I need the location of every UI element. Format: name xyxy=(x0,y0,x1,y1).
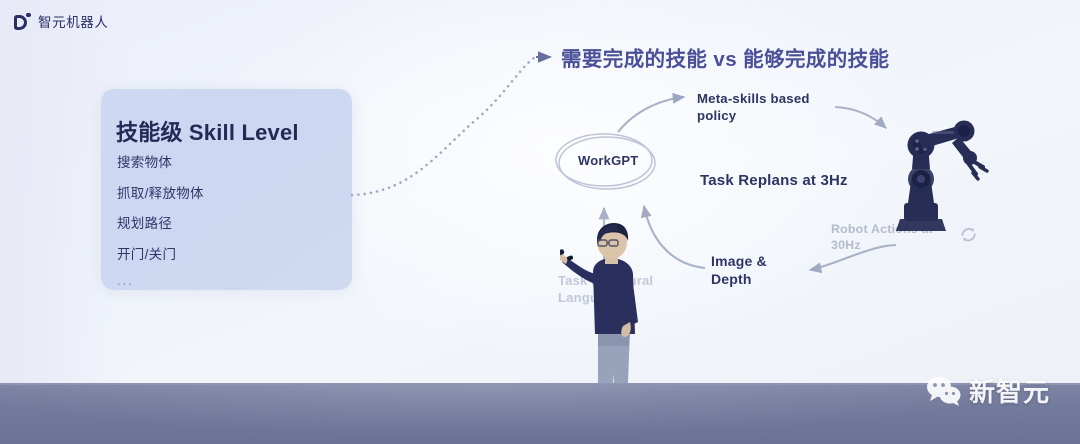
label-task-replans: Task Replans at 3Hz xyxy=(700,172,848,189)
dotted-connector-path xyxy=(352,57,550,195)
wechat-icon xyxy=(926,376,962,406)
label-workgpt-node: WorkGPT xyxy=(578,153,638,168)
stage-floor-sheen xyxy=(0,385,1080,444)
label-image-depth: Image & Depth xyxy=(711,252,767,288)
watermark: 新智元 xyxy=(926,372,1050,409)
arrow-policy-to-robot xyxy=(835,107,886,128)
arrow-workgpt-to-policy xyxy=(618,97,684,132)
label-meta-skills-policy: Meta-skills based policy xyxy=(697,90,810,124)
robot-arm-icon xyxy=(884,103,994,235)
watermark-text: 新智元 xyxy=(969,372,1050,409)
presentation-screenshot: 智元机器人 技能级 Skill Level 搜索物体 抓取/释放物体 规划路径 … xyxy=(0,0,1080,444)
